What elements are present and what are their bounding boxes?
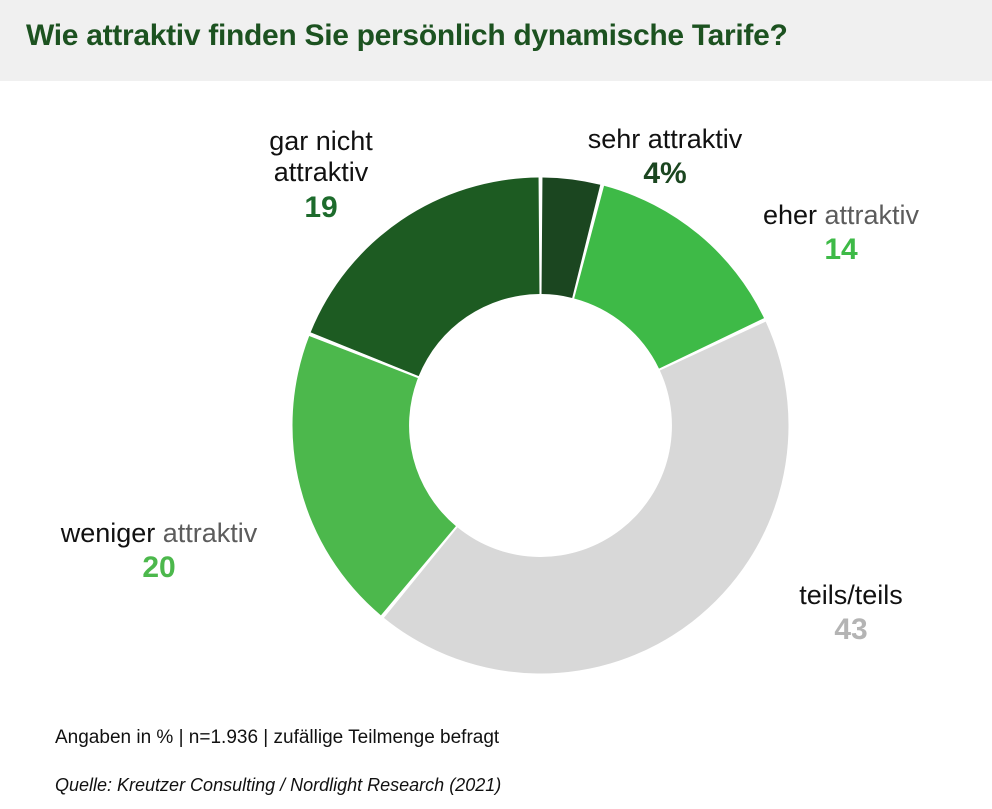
- slice-label-word-strong: weniger: [61, 518, 163, 548]
- slice-label-line1: gar nicht: [196, 126, 446, 157]
- slice-label-line1: teils/teils: [716, 580, 986, 611]
- slice-value-gar-nicht: 19: [196, 191, 446, 226]
- slice-value-teils-teils: 43: [716, 613, 986, 648]
- slice-label-word-strong: eher: [763, 200, 825, 230]
- slice-label-word-muted: attraktiv: [163, 518, 258, 548]
- slice-value-eher-attraktiv: 14: [696, 233, 986, 268]
- chart-container: Wie attraktiv finden Sie persönlich dyna…: [0, 0, 992, 809]
- page-title: Wie attraktiv finden Sie persönlich dyna…: [26, 19, 966, 53]
- slice-label-line1: eher attraktiv: [696, 200, 986, 231]
- slice-label-line1: sehr attraktiv: [500, 124, 830, 155]
- footer-note: Angaben in % | n=1.936 | zufällige Teilm…: [55, 727, 499, 749]
- slice-label-line2: attraktiv: [196, 157, 446, 188]
- slice-value-sehr-attraktiv: 4%: [500, 157, 830, 192]
- slice-label-teils-teils: teils/teils 43: [716, 580, 986, 648]
- slice-value-weniger-attraktiv: 20: [14, 551, 304, 586]
- slice-label-weniger-attraktiv: weniger attraktiv 20: [14, 518, 304, 586]
- slice-label-line1: weniger attraktiv: [14, 518, 304, 549]
- slice-label-gar-nicht-attraktiv: gar nicht attraktiv 19: [196, 126, 446, 225]
- slice-label-word-muted: attraktiv: [825, 200, 920, 230]
- slice-label-sehr-attraktiv: sehr attraktiv 4%: [500, 124, 830, 192]
- slice-label-eher-attraktiv: eher attraktiv 14: [696, 200, 986, 268]
- footer-source: Quelle: Kreutzer Consulting / Nordlight …: [55, 775, 501, 796]
